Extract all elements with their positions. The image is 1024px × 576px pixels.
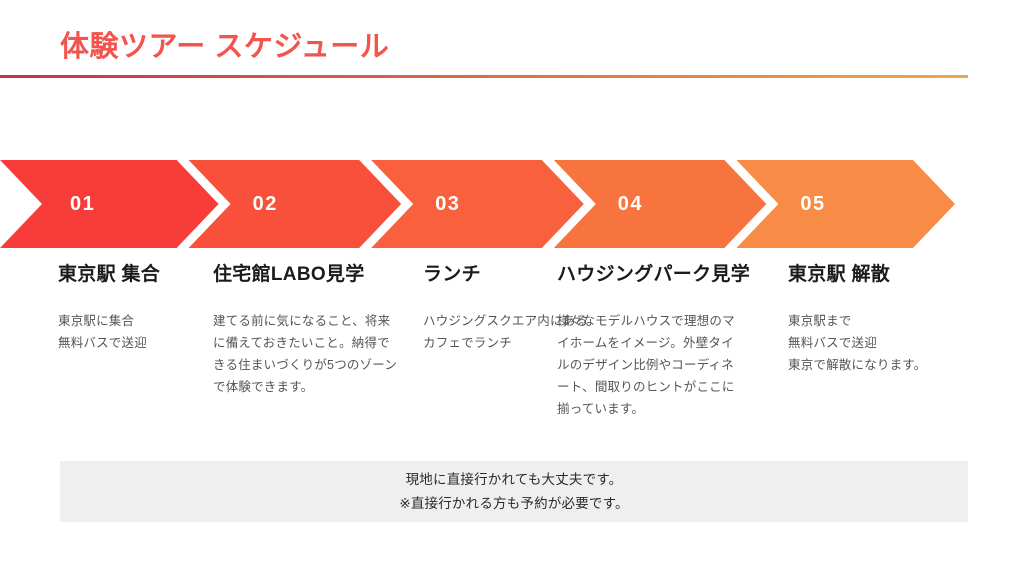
chevron-number-04: 04: [618, 193, 643, 216]
title-divider: [0, 75, 968, 78]
chevron-number-02: 02: [253, 193, 278, 216]
chevron-number-01: 01: [70, 193, 95, 216]
chevron-number-05: 05: [800, 193, 825, 216]
footer-note-line-1: 現地に直接行かれても大丈夫です。: [406, 468, 623, 492]
step-heading-02: 住宅館LABO見学: [213, 262, 398, 288]
step-columns: 東京駅 集合東京駅に集合 無料バスで送迎住宅館LABO見学建てる前に気になること…: [0, 262, 1024, 452]
step-body-05: 東京駅まで 無料バスで送迎 東京で解散になります。: [788, 310, 988, 376]
chevron-number-03: 03: [435, 193, 460, 216]
footer-note-box: 現地に直接行かれても大丈夫です。 ※直接行かれる方も予約が必要です。: [60, 461, 968, 522]
step-heading-01: 東京駅 集合: [58, 262, 208, 288]
step-body-02: 建てる前に気になること、将来に備えておきたいこと。納得できる住まいづくりが5つの…: [213, 310, 398, 398]
step-column-02: 住宅館LABO見学建てる前に気になること、将来に備えておきたいこと。納得できる住…: [213, 262, 398, 398]
step-column-05: 東京駅 解散東京駅まで 無料バスで送迎 東京で解散になります。: [788, 262, 988, 376]
page-title: 体験ツアー スケジュール: [60, 23, 389, 65]
chevron-step-band: 0102030405: [0, 160, 956, 248]
step-body-04: 様々なモデルハウスで理想のマイホームをイメージ。外壁タイルのデザイン比例やコーデ…: [557, 310, 737, 420]
step-body-01: 東京駅に集合 無料バスで送迎: [58, 310, 208, 354]
step-column-01: 東京駅 集合東京駅に集合 無料バスで送迎: [58, 262, 208, 354]
step-column-04: ハウジングパーク見学様々なモデルハウスで理想のマイホームをイメージ。外壁タイルの…: [557, 262, 737, 420]
step-heading-04: ハウジングパーク見学: [557, 262, 737, 288]
footer-note-line-2: ※直接行かれる方も予約が必要です。: [399, 492, 628, 516]
step-heading-05: 東京駅 解散: [788, 262, 988, 288]
